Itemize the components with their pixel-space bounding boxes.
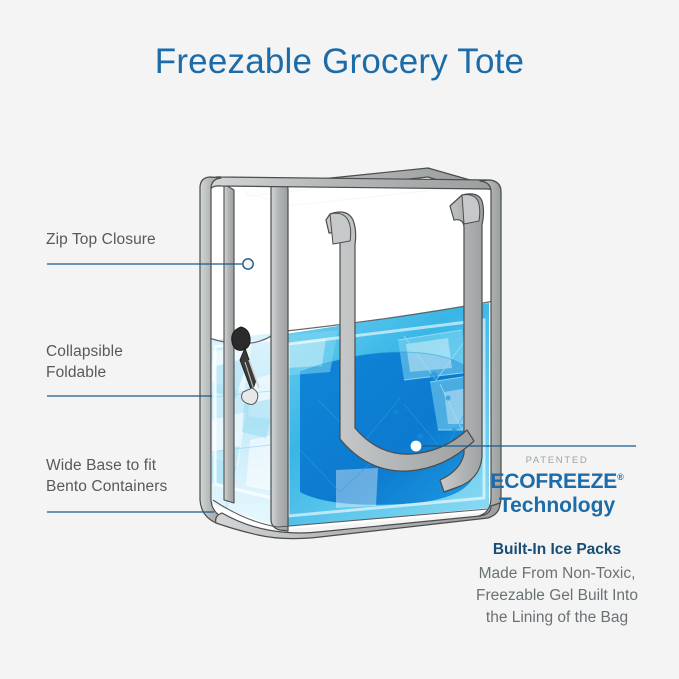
leader-marker-zip <box>243 259 253 269</box>
technology-word: Technology <box>444 494 670 518</box>
ecofreeze-brand-block: PATENTED ECOFREEZE® Technology Built-In … <box>444 455 670 629</box>
leader-marker-ecofreeze <box>411 441 422 452</box>
feature-heading: Built-In Ice Packs <box>444 539 670 561</box>
ecofreeze-wordmark: ECOFREEZE® <box>444 471 670 494</box>
callout-collapsible-line-1: Collapsible <box>46 341 123 362</box>
callout-wide-base: Wide Base to fit Bento Containers <box>46 455 167 498</box>
callout-zip-top-closure: Zip Top Closure <box>46 229 156 250</box>
patented-label: PATENTED <box>444 455 670 466</box>
callout-collapsible-line-2: Foldable <box>46 362 123 383</box>
callout-widebase-line-1: Wide Base to fit <box>46 455 167 476</box>
infographic-canvas: Freezable Grocery Tote <box>0 0 679 679</box>
feature-line-3: the Lining of the Bag <box>444 607 670 629</box>
feature-line-2: Freezable Gel Built Into <box>444 585 670 607</box>
corner-seam-piping <box>271 181 288 531</box>
feature-description: Built-In Ice Packs Made From Non-Toxic, … <box>444 539 670 629</box>
callout-collapsible-foldable: Collapsible Foldable <box>46 341 123 384</box>
feature-line-1: Made From Non-Toxic, <box>444 563 670 585</box>
ecofreeze-name: ECOFREEZE <box>491 470 618 493</box>
callout-widebase-line-2: Bento Containers <box>46 476 167 497</box>
registered-mark-icon: ® <box>617 472 623 482</box>
callout-zip-line-1: Zip Top Closure <box>46 229 156 250</box>
